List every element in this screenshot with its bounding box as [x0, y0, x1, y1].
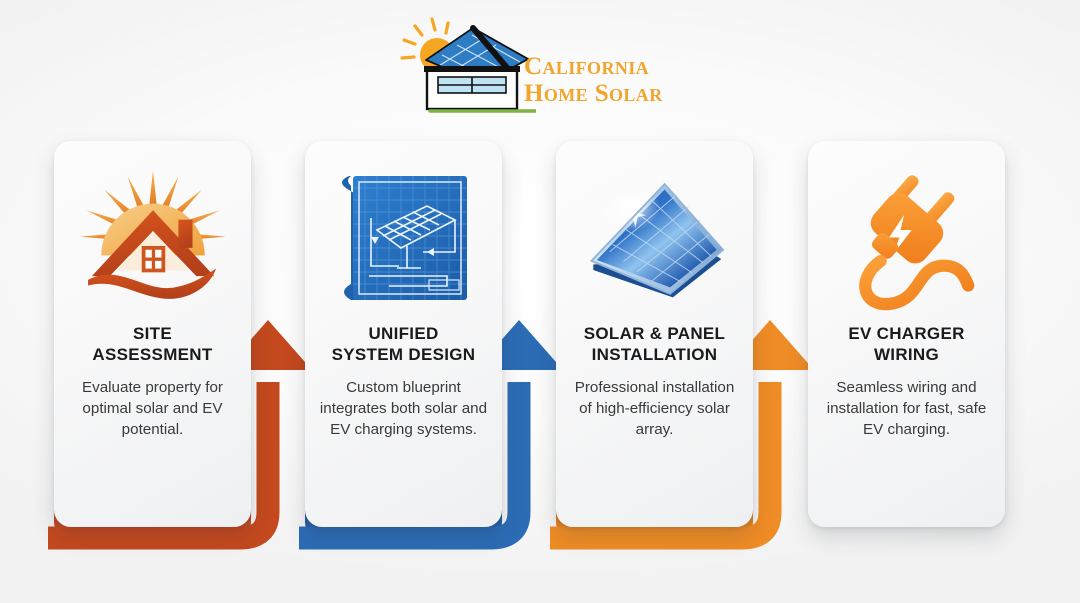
card-title-line2: WIRING [874, 345, 939, 364]
card-title-line1: SITE [133, 324, 172, 343]
card-title-ev-charger-wiring: EV CHARGER WIRING [817, 324, 997, 365]
card-title-site-assessment: SITE ASSESSMENT [63, 324, 243, 365]
card-body-unified-system-design: Custom blueprint integrates both solar a… [318, 378, 490, 440]
solar-panel-3d-icon [575, 155, 735, 320]
house-with-solar-panels-and-sun-logo-icon [396, 14, 536, 114]
card-title-line1: UNIFIED [368, 324, 438, 343]
step-card-site-assessment[interactable]: SITE ASSESSMENT Evaluate property for op… [54, 141, 251, 527]
card-body-site-assessment: Evaluate property for optimal solar and … [67, 378, 239, 440]
card-title-line1: SOLAR & PANEL [584, 324, 725, 343]
card-body-ev-charger-wiring: Seamless wiring and installation for fas… [821, 378, 993, 440]
infographic-canvas: California Home Solar [0, 0, 1080, 603]
step-card-ev-charger-wiring[interactable]: EV CHARGER WIRING Seamless wiring and in… [808, 141, 1005, 527]
blueprint-solar-plan-icon [324, 155, 484, 320]
card-title-line1: EV CHARGER [848, 324, 964, 343]
card-title-line2: SYSTEM DESIGN [332, 345, 476, 364]
brand-logo-line1: California [524, 54, 689, 80]
card-title-line2: ASSESSMENT [92, 345, 212, 364]
card-title-line2: INSTALLATION [592, 345, 718, 364]
ev-plug-icon [827, 155, 987, 320]
brand-logo: California Home Solar [396, 14, 686, 114]
brand-logo-text: California Home Solar [524, 54, 689, 106]
sun-over-house-icon [73, 155, 233, 320]
card-title-unified-system-design: UNIFIED SYSTEM DESIGN [314, 324, 494, 365]
brand-logo-line2: Home Solar [524, 81, 689, 107]
step-card-unified-system-design[interactable]: UNIFIED SYSTEM DESIGN Custom blueprint i… [305, 141, 502, 527]
card-title-solar-panel-installation: SOLAR & PANEL INSTALLATION [565, 324, 745, 365]
step-card-solar-panel-installation[interactable]: SOLAR & PANEL INSTALLATION Professional … [556, 141, 753, 527]
card-body-solar-panel-installation: Professional installation of high-effici… [569, 378, 741, 440]
